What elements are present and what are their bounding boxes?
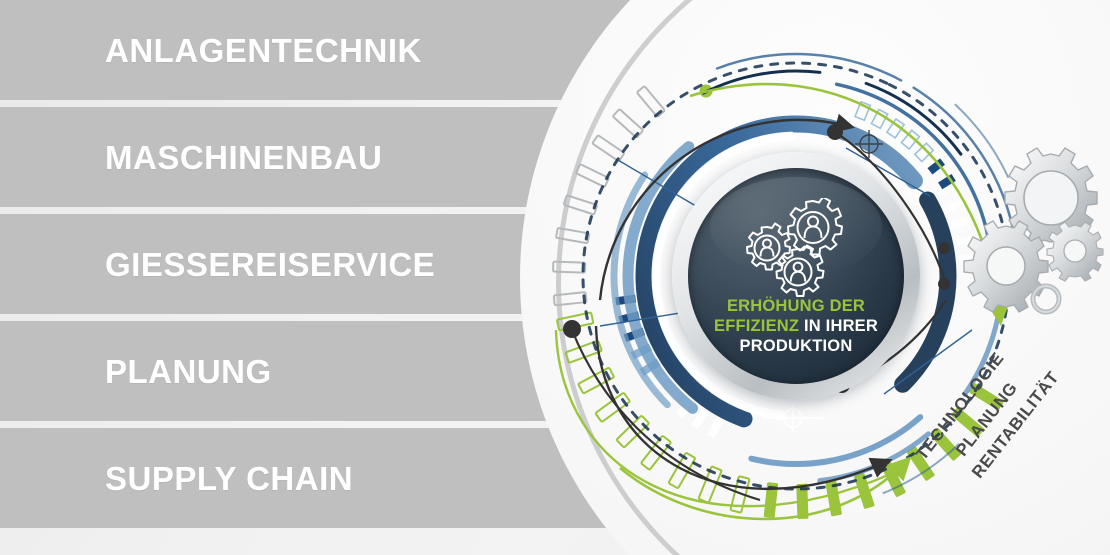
headline-line2-green: EFFIZIENZ xyxy=(714,317,799,335)
three-gears-with-person-icon xyxy=(737,198,855,298)
dot-right-lower xyxy=(938,278,950,290)
gear-tiny xyxy=(1033,286,1059,312)
dot-top-right xyxy=(827,124,843,140)
infographic-canvas: ANLAGENTECHNIK MASCHINENBAU GIESSEREISER… xyxy=(0,0,1110,555)
dot-right-upper xyxy=(938,242,950,254)
crosshair-marker-light xyxy=(762,404,824,432)
dot-left xyxy=(563,320,581,338)
emblem-inner-disc: ERHÖHUNG DER EFFIZIENZ IN IHRER PRODUKTI… xyxy=(688,168,904,384)
headline-line1: ERHÖHUNG DER xyxy=(727,297,865,315)
tech-circle-artwork xyxy=(0,0,1110,555)
center-headline: ERHÖHUNG DER EFFIZIENZ IN IHRER PRODUKTI… xyxy=(688,296,904,356)
headline-line2-white: IN IHRER xyxy=(799,317,878,335)
headline-line3: PRODUKTION xyxy=(740,337,853,355)
center-emblem[interactable]: ERHÖHUNG DER EFFIZIENZ IN IHRER PRODUKTI… xyxy=(672,152,920,400)
